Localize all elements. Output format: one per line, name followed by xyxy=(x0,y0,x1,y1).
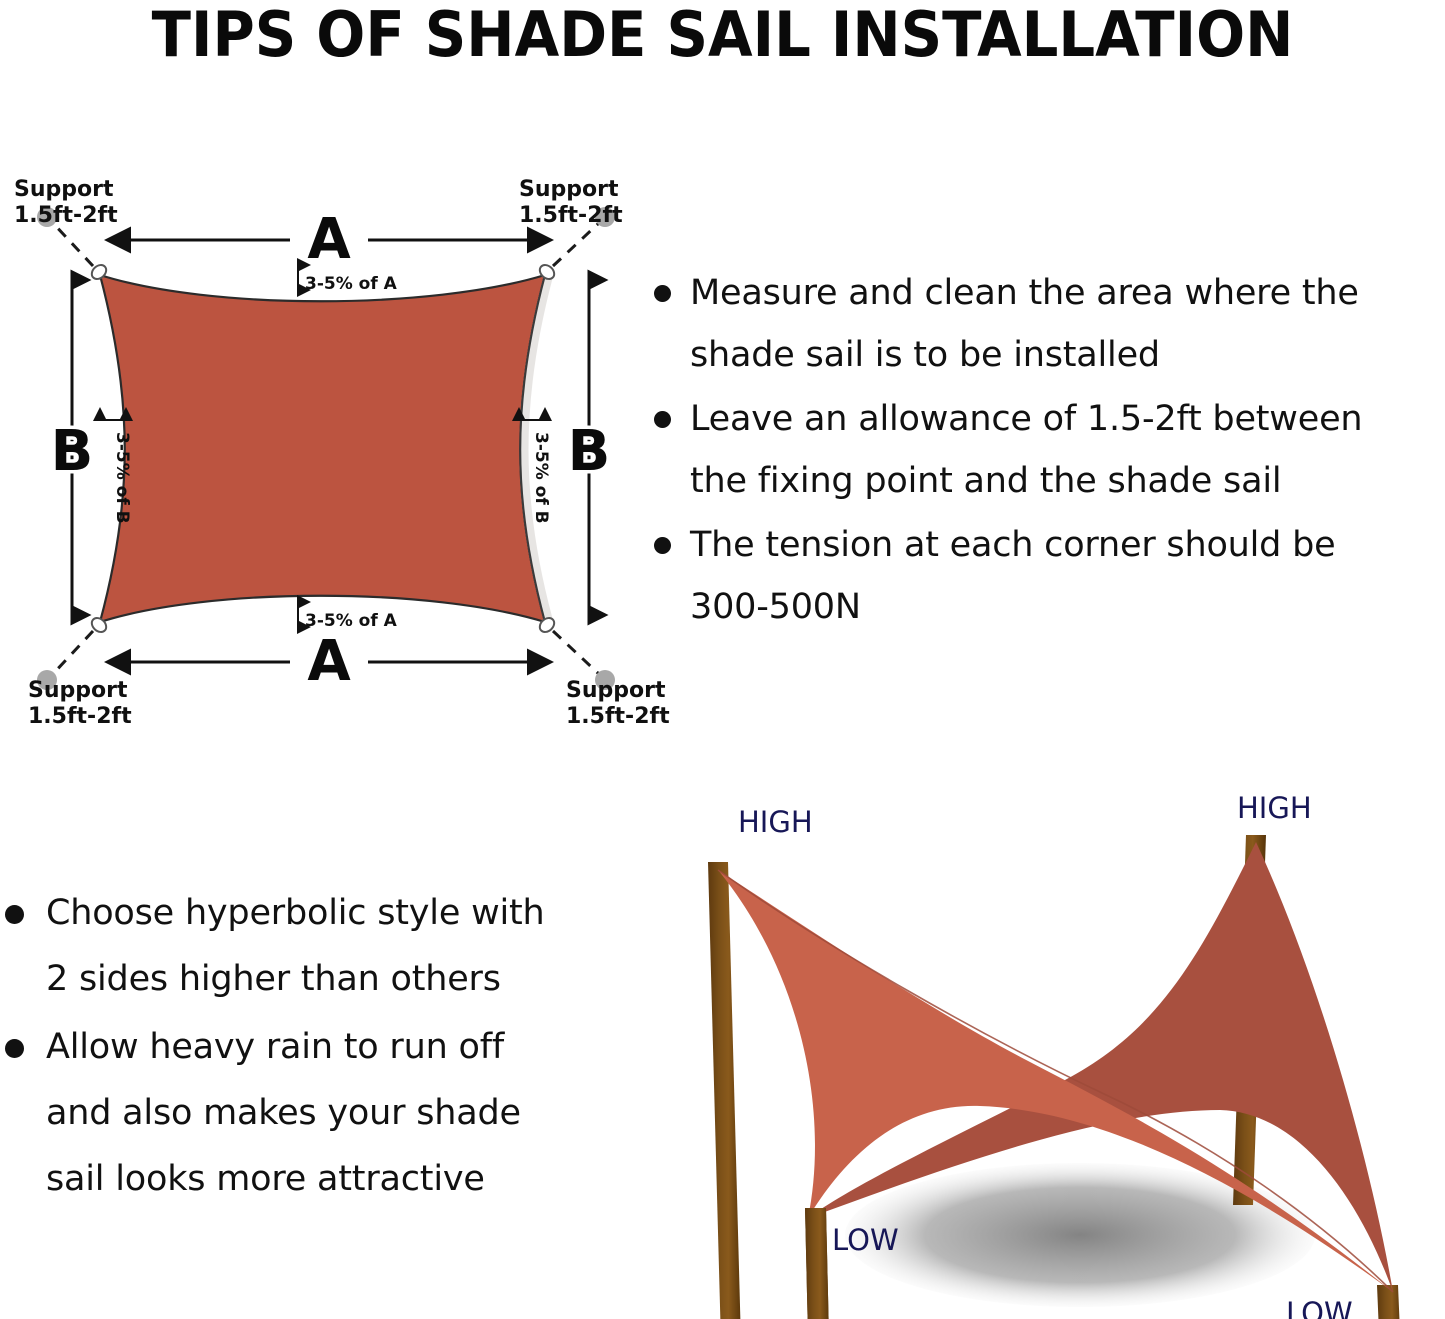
installation-tips-list: Measure and clean the area where the sha… xyxy=(648,262,1445,640)
bullet-dot-icon xyxy=(654,537,671,554)
dimension-arrow-B-right: B xyxy=(568,280,611,615)
support-label-top-right: Support 1.5ft-2ft xyxy=(519,177,623,228)
support-label-top-left: Support 1.5ft-2ft xyxy=(14,177,118,228)
list-item-line: Choose hyperbolic style with xyxy=(46,893,545,933)
post-low-right xyxy=(1377,1285,1402,1319)
list-item-line: shade sail is to be installed xyxy=(690,335,1160,375)
list-item: Measure and clean the area where the sha… xyxy=(648,262,1445,386)
curve-label-B-left: 3-5% of B xyxy=(112,432,132,524)
curve-annotation-B-left: 3-5% of B xyxy=(100,420,132,524)
post-high-left xyxy=(708,862,742,1319)
list-item-line: and also makes your shade xyxy=(46,1093,521,1133)
dimension-arrow-B-left: B xyxy=(51,280,94,615)
dimension-label-A-top: A xyxy=(307,207,351,272)
hyperbolic-sail-illustration: HIGH HIGH LOW LOW xyxy=(680,780,1445,1319)
support-label-line1: Support xyxy=(14,177,114,202)
support-label-line2: 1.5ft-2ft xyxy=(14,203,118,228)
support-label-line2: 1.5ft-2ft xyxy=(566,704,670,729)
curve-label-A-bottom: 3-5% of A xyxy=(305,611,398,631)
list-item: Leave an allowance of 1.5-2ft between th… xyxy=(648,388,1445,512)
bullet-dot-icon xyxy=(654,285,671,302)
support-label-line2: 1.5ft-2ft xyxy=(28,704,132,729)
support-label-line1: Support xyxy=(28,678,128,703)
support-label-line1: Support xyxy=(519,177,619,202)
support-label-bottom-right: Support 1.5ft-2ft xyxy=(566,678,670,729)
support-label-line1: Support xyxy=(566,678,666,703)
dimension-arrow-A-bottom: A xyxy=(128,629,530,694)
list-item-line: Measure and clean the area where the xyxy=(690,273,1359,313)
shade-sail-shape xyxy=(100,275,545,622)
corner-label-high-left: HIGH xyxy=(738,805,813,839)
curve-label-A-top: 3-5% of A xyxy=(305,274,398,294)
curve-label-B-right: 3-5% of B xyxy=(531,432,551,524)
list-item-line: the fixing point and the shade sail xyxy=(690,461,1281,501)
bullet-dot-icon xyxy=(5,1039,24,1058)
list-item-line: 300-500N xyxy=(690,587,861,627)
dimension-label-B-left: B xyxy=(51,419,94,484)
dimension-label-A-bottom: A xyxy=(307,629,351,694)
corner-label-high-right: HIGH xyxy=(1237,791,1312,825)
corner-label-low-right: LOW xyxy=(1286,1296,1353,1319)
support-label-bottom-left: Support 1.5ft-2ft xyxy=(28,678,132,729)
post-low-left-front xyxy=(805,1208,830,1319)
bullet-dot-icon xyxy=(5,905,24,924)
list-item: The tension at each corner should be 300… xyxy=(648,514,1445,638)
curve-annotation-A-bottom: 3-5% of A xyxy=(298,602,398,631)
bullet-dot-icon xyxy=(654,411,671,428)
page-title: TIPS OF SHADE SAIL INSTALLATION xyxy=(51,0,1395,71)
support-label-line2: 1.5ft-2ft xyxy=(519,203,623,228)
list-item-line: sail looks more attractive xyxy=(46,1159,485,1199)
list-item: Allow heavy rain to run off and also mak… xyxy=(0,1014,620,1212)
list-item: Choose hyperbolic style with 2 sides hig… xyxy=(0,880,620,1012)
corner-label-low-left: LOW xyxy=(832,1223,899,1257)
dimension-label-B-right: B xyxy=(568,419,611,484)
list-item-line: 2 sides higher than others xyxy=(46,959,501,999)
rectangular-sail-diagram: Support 1.5ft-2ft Support 1.5ft-2ft Supp… xyxy=(0,150,660,750)
list-item-line: Allow heavy rain to run off xyxy=(46,1027,504,1067)
list-item-line: Leave an allowance of 1.5-2ft between xyxy=(690,399,1362,439)
list-item-line: The tension at each corner should be xyxy=(690,525,1335,565)
hyperbolic-tips-list: Choose hyperbolic style with 2 sides hig… xyxy=(0,880,620,1214)
dimension-arrow-A-top: A xyxy=(128,207,530,272)
